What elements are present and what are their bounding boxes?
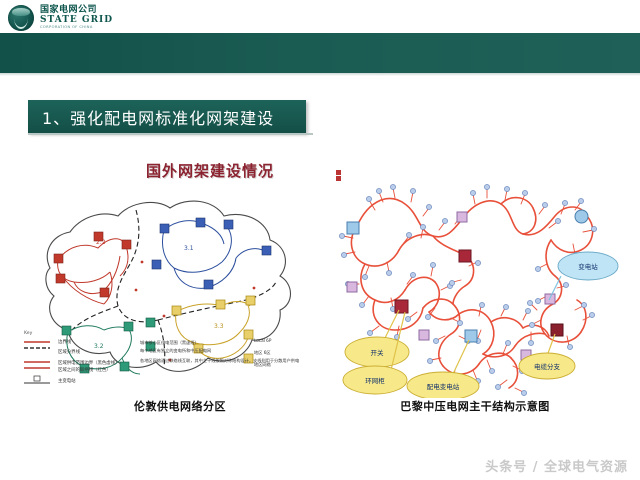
- svg-text:配电变电站: 配电变电站: [427, 382, 460, 391]
- brand-name-sub: CORPORATION OF CHINA: [40, 26, 113, 30]
- state-grid-globe-icon: [8, 5, 34, 31]
- section-underline: [28, 133, 313, 135]
- svg-text:区域之间的联络线（红色）: 区域之间的联络线（红色）: [58, 366, 111, 373]
- figure-caption-right: 巴黎中压电网主干结构示意图: [350, 398, 600, 414]
- brand-name-en: STATE GRID: [40, 16, 113, 25]
- svg-text:主变电站: 主变电站: [58, 377, 76, 384]
- page-title: 配电网技术导则主要修订内容: [392, 0, 626, 40]
- watermark-text: 头条号 / 全球电气资源: [485, 460, 628, 475]
- svg-text:区域供电范围边界（黑色虚线）: 区域供电范围边界（黑色虚线）: [58, 359, 119, 366]
- figure-london-zone-map: 2.2 3.1: [18, 172, 318, 394]
- brand-name-cn: 国家电网公司: [40, 6, 113, 15]
- watermark: 头条号 / 全球电气资源: [485, 456, 628, 475]
- brand-logo: 国家电网公司 STATE GRID CORPORATION OF CHINA: [8, 4, 218, 32]
- callout-yellow-4: 电缆分支: [519, 334, 575, 379]
- svg-text:边界线: 边界线: [58, 338, 72, 345]
- header-band-shadow: [0, 73, 640, 76]
- brand-text: 国家电网公司 STATE GRID CORPORATION OF CHINA: [40, 6, 113, 30]
- callout-blue-1: 变电站: [549, 252, 618, 300]
- callout-yellow-3: 配电变电站: [407, 340, 479, 398]
- svg-text:地区 6区: 地区 6区: [254, 349, 271, 355]
- svg-text:城市核心区供电范围（黑虚线）: 城市核心区供电范围（黑虚线）: [140, 339, 199, 346]
- section-title-label: 1、强化配电网标准化网架建设: [42, 105, 274, 129]
- svg-text:变电站: 变电站: [578, 262, 598, 271]
- figure-caption-left: 伦敦供电网络分区: [60, 398, 300, 414]
- svg-text:环网柜: 环网柜: [365, 376, 385, 385]
- section-title-box: 1、强化配电网标准化网架建设: [28, 100, 306, 133]
- svg-text:电缆分支: 电缆分支: [534, 362, 561, 371]
- svg-text:3.1: 3.1: [184, 245, 194, 252]
- svg-text:3.3: 3.3: [214, 323, 224, 330]
- svg-text:各地区网络通过联络线互联，其中主干线按照对称结构设计，支线则: 各地区网络通过联络线互联，其中主干线按照对称结构设计，支线则用于分散用户供电: [140, 357, 300, 364]
- svg-text:2.2: 2.2: [96, 239, 106, 246]
- svg-text:Key: Key: [24, 330, 33, 336]
- svg-text:开关: 开关: [371, 348, 385, 357]
- slide-root: 国家电网公司 STATE GRID CORPORATION OF CHINA 配…: [0, 0, 640, 480]
- svg-text:3.2: 3.2: [94, 343, 104, 350]
- svg-text:每个地区有独立的变电所和中压配电网: 每个地区有独立的变电所和中压配电网: [140, 347, 211, 354]
- svg-text:区域分界线: 区域分界线: [58, 348, 81, 355]
- svg-text:Local 6P: Local 6P: [254, 338, 272, 343]
- figure-paris-mv-grid: 变电站 开关 环网柜 配电变电站: [335, 170, 625, 398]
